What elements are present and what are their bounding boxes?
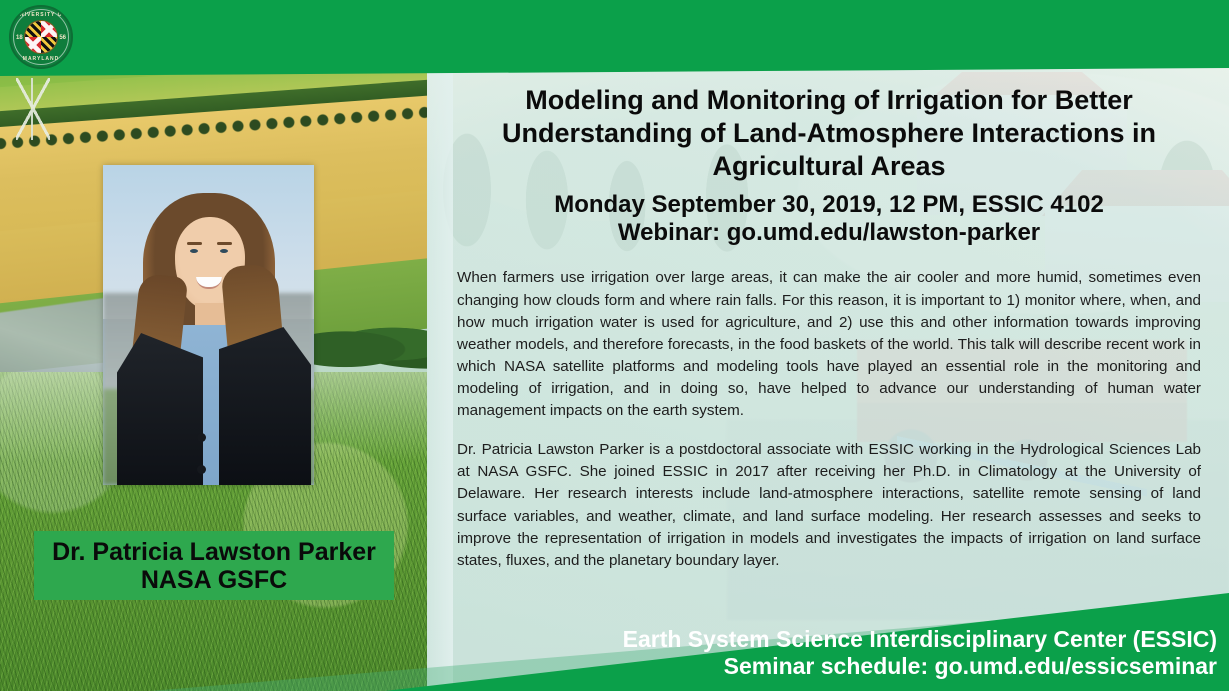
flag-quadrant (41, 37, 57, 53)
footer-text: Earth System Science Interdisciplinary C… (623, 626, 1217, 681)
flag-quadrant (25, 21, 41, 37)
speaker-headshot-photo (103, 165, 314, 485)
eyebrow (187, 242, 202, 245)
seminar-flyer: UNIVERSITY OF MARYLAND 18 56 ESSIC Semin… (0, 0, 1229, 691)
flag-quadrant (41, 21, 57, 37)
speaker-name-banner: Dr. Patricia Lawston Parker NASA GSFC (34, 531, 394, 600)
eye (220, 249, 228, 253)
black-blazer (219, 327, 311, 485)
speaker-affiliation: NASA GSFC (141, 566, 287, 594)
footer-schedule-link[interactable]: Seminar schedule: go.umd.edu/essicsemina… (623, 653, 1217, 681)
eye (190, 249, 198, 253)
university-of-maryland-seal-icon: UNIVERSITY OF MARYLAND 18 56 (9, 5, 73, 69)
speaker-bio: Dr. Patricia Lawston Parker is a postdoc… (457, 439, 1201, 572)
talk-title: Modeling and Monitoring of Irrigation fo… (457, 84, 1201, 183)
power-pylon (16, 78, 50, 140)
flag-quadrant (25, 37, 41, 53)
black-blazer (117, 333, 203, 485)
blazer-button (197, 465, 206, 474)
main-content: Modeling and Monitoring of Irrigation fo… (443, 78, 1215, 623)
hedgerow (300, 318, 440, 370)
speaker-name: Dr. Patricia Lawston Parker (52, 538, 376, 566)
footer-organization: Earth System Science Interdisciplinary C… (623, 626, 1217, 654)
maryland-flag-globe-icon (25, 21, 57, 53)
seal-year-right: 56 (59, 35, 66, 41)
blazer-button (197, 433, 206, 442)
seal-top-text: UNIVERSITY OF (11, 12, 71, 18)
seal-year-left: 18 (16, 35, 23, 41)
header-bar (0, 0, 1229, 76)
talk-webinar-link[interactable]: Webinar: go.umd.edu/lawston-parker (443, 219, 1215, 247)
talk-abstract: When farmers use irrigation over large a… (457, 267, 1201, 422)
talk-datetime-location: Monday September 30, 2019, 12 PM, ESSIC … (443, 191, 1215, 219)
seal-bottom-text: MARYLAND (11, 56, 71, 62)
eyebrow (217, 242, 232, 245)
